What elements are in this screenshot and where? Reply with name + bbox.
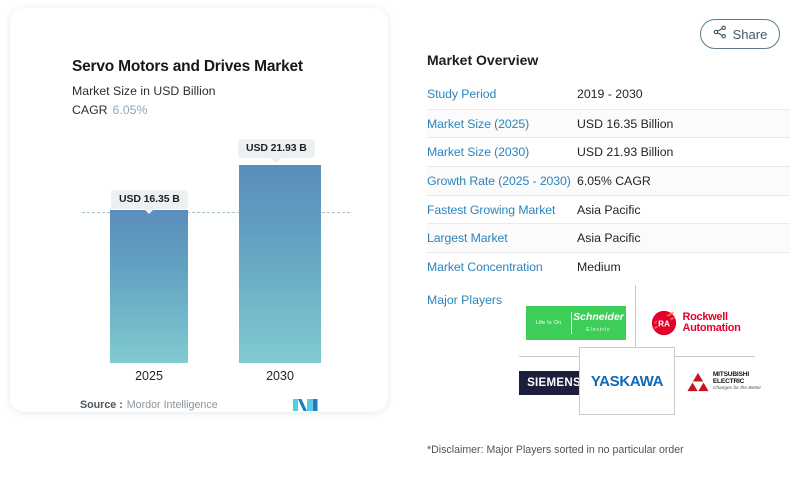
yaskawa-logo-icon: YASKAWA: [591, 373, 663, 390]
row-key: Market Size (2025): [427, 117, 577, 131]
table-row: Market Concentration Medium: [427, 252, 790, 281]
table-row: Growth Rate (2025 - 2030) 6.05% CAGR: [427, 166, 790, 195]
row-value: 6.05% CAGR: [577, 174, 651, 188]
row-value: 2019 - 2030: [577, 87, 643, 101]
mitsubishi-line2: ELECTRIC: [713, 379, 761, 386]
row-value: Asia Pacific: [577, 231, 641, 245]
market-overview-table: Study Period 2019 - 2030 Market Size (20…: [427, 80, 790, 281]
logo-cell-mitsubishi: MITSUBISHI ELECTRIC Changes for the Bett…: [685, 367, 763, 397]
mitsubishi-wordmark: MITSUBISHI ELECTRIC Changes for the Bett…: [713, 372, 761, 392]
row-key: Market Concentration: [427, 260, 577, 274]
schneider-electric-logo-icon: Life Is On Schneider Electric: [526, 306, 626, 340]
major-players-logo-grid: Life Is On Schneider Electric RA Rockwel…: [427, 285, 790, 415]
bar-value-label-2025: USD 16.35 B: [111, 190, 188, 209]
source-label: Source :: [80, 399, 123, 411]
table-row: Market Size (2030) USD 21.93 Billion: [427, 137, 790, 166]
schneider-brand: Schneider Electric: [572, 312, 626, 334]
mitsubishi-tagline: Changes for the Better: [713, 387, 761, 392]
schneider-divider: [571, 312, 572, 334]
row-value: Medium: [577, 260, 621, 274]
source-value: Mordor Intelligence: [127, 399, 218, 411]
disclaimer-text: *Disclaimer: Major Players sorted in no …: [427, 444, 684, 456]
source-row: Source :Mordor Intelligence: [80, 399, 218, 411]
schneider-brand-sub: Electric: [586, 327, 610, 333]
rockwell-line1: Rockwell: [682, 311, 727, 323]
logo-cell-schneider: Life Is On Schneider Electric: [526, 305, 626, 341]
schneider-brand-text: Schneider: [573, 311, 624, 323]
schneider-tagline: Life Is On: [527, 320, 571, 326]
rockwell-wordmark: Rockwell Automation: [682, 312, 740, 334]
svg-text:RA: RA: [659, 319, 671, 328]
share-nodes-icon: [713, 25, 727, 44]
row-key: Fastest Growing Market: [427, 203, 577, 217]
bar-2030: [239, 165, 321, 363]
share-button[interactable]: Share: [700, 19, 780, 49]
table-row: Fastest Growing Market Asia Pacific: [427, 195, 790, 224]
row-value: USD 16.35 Billion: [577, 117, 673, 131]
row-key: Market Size (2030): [427, 145, 577, 159]
rockwell-line2: Automation: [682, 322, 740, 334]
chart-card: Servo Motors and Drives Market Market Si…: [10, 8, 388, 412]
table-row: Largest Market Asia Pacific: [427, 223, 790, 252]
bar-2025: [110, 210, 188, 363]
rockwell-automation-logo-icon: RA Rockwell Automation: [651, 310, 740, 336]
mitsubishi-electric-logo-icon: MITSUBISHI ELECTRIC Changes for the Bett…: [687, 372, 761, 392]
rockwell-mark-icon: RA: [651, 310, 677, 336]
bar-chart-plot: USD 16.35 B USD 21.93 B 2025 2030: [10, 8, 388, 412]
table-row: Market Size (2025) USD 16.35 Billion: [427, 109, 790, 138]
mitsubishi-diamonds-icon: [687, 372, 709, 392]
share-button-label: Share: [733, 27, 768, 42]
market-report-card: Servo Motors and Drives Market Market Si…: [0, 0, 800, 482]
row-key: Largest Market: [427, 231, 577, 245]
row-value: USD 21.93 Billion: [577, 145, 673, 159]
x-axis-label-2025: 2025: [110, 369, 188, 383]
bar-value-label-2030: USD 21.93 B: [238, 139, 315, 158]
row-key: Growth Rate (2025 - 2030): [427, 174, 577, 188]
logo-cell-rockwell: RA Rockwell Automation: [641, 305, 751, 341]
logo-cell-yaskawa: YASKAWA: [579, 347, 675, 415]
mordor-intelligence-logo-icon: [293, 397, 319, 417]
x-axis-label-2030: 2030: [239, 369, 321, 383]
row-key: Study Period: [427, 87, 577, 101]
siemens-wordmark: SIEMENS: [527, 377, 581, 389]
market-overview-heading: Market Overview: [427, 52, 538, 68]
table-row: Study Period 2019 - 2030: [427, 80, 790, 109]
row-value: Asia Pacific: [577, 203, 641, 217]
